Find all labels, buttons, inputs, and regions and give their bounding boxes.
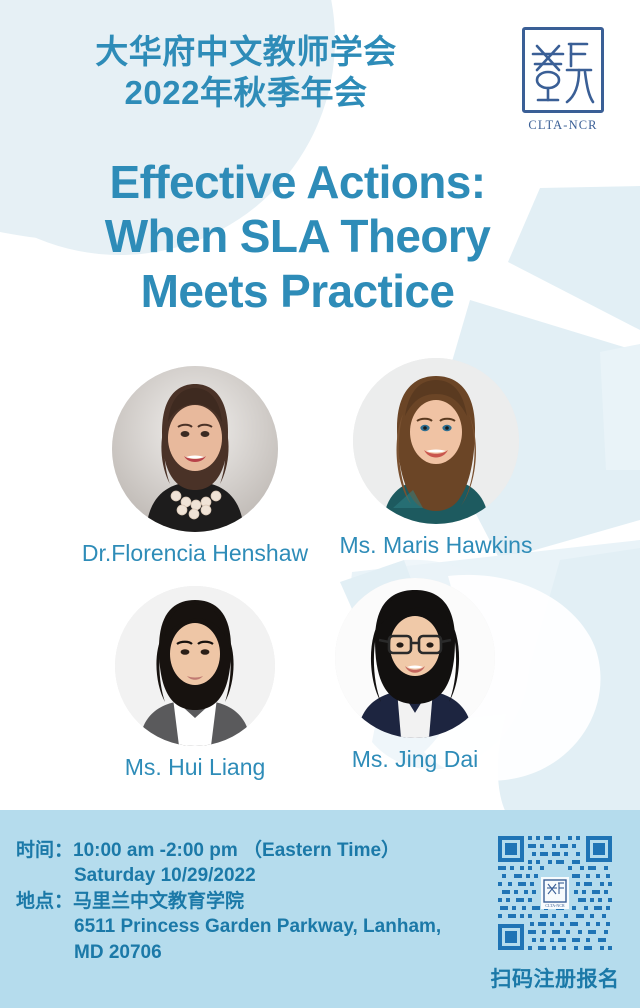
organization-title: 大华府中文教师学会 2022年秋季年会 (0, 32, 492, 114)
speakers-row-2: Ms. Hui Liang (0, 580, 640, 802)
time-value: 10:00 am -2:00 pm （Eastern Time） (73, 840, 400, 861)
title-line-2: When SLA Theory (0, 209, 595, 263)
time-label: 时间： (16, 840, 73, 861)
clta-ncr-logo: CLTA-NCR (508, 27, 618, 133)
place-value: 马里兰中文教育学院 (73, 891, 244, 912)
org-title-line-2: 2022年秋季年会 (0, 73, 492, 114)
event-address-row-1: 6511 Princess Garden Parkway, Lanham, (16, 914, 476, 939)
speaker-name-2: Ms. Maris Hawkins (336, 532, 536, 559)
speaker-name-1: Dr.Florencia Henshaw (80, 540, 310, 567)
portrait-florencia-henshaw (112, 366, 278, 532)
portrait-hui-liang (115, 586, 275, 746)
svg-text:CLTA-NCR: CLTA-NCR (545, 903, 565, 908)
portrait-maris-hawkins (353, 358, 519, 524)
speaker-name-3: Ms. Hui Liang (95, 754, 295, 781)
speaker-card-1: Dr.Florencia Henshaw (80, 366, 310, 567)
speaker-card-4: Ms. Jing Dai (315, 578, 515, 773)
speakers-row-1: Dr.Florencia Henshaw (0, 358, 640, 580)
registration-qr-block[interactable]: CLTA-NCR 扫码注册报名 (486, 832, 624, 993)
speaker-card-2: Ms. Maris Hawkins (336, 358, 536, 559)
event-time-row: 时间：10:00 am -2:00 pm （Eastern Time） (16, 838, 476, 863)
event-date-row: Saturday 10/29/2022 (16, 863, 476, 888)
event-address-row-2: MD 20706 (16, 940, 476, 965)
qr-caption: 扫码注册报名 (486, 963, 624, 993)
event-details: 时间：10:00 am -2:00 pm （Eastern Time） Satu… (16, 838, 476, 965)
portrait-jing-dai (335, 578, 495, 738)
clta-ncr-seal-icon (522, 27, 604, 113)
event-place-row: 地点：马里兰中文教育学院 (16, 889, 476, 914)
title-line-3: Meets Practice (0, 264, 595, 318)
logo-caption: CLTA-NCR (508, 118, 618, 133)
speaker-name-4: Ms. Jing Dai (315, 746, 515, 773)
speakers-section: Dr.Florencia Henshaw (0, 358, 640, 802)
poster-title: Effective Actions: When SLA Theory Meets… (0, 155, 595, 318)
poster-footer: 时间：10:00 am -2:00 pm （Eastern Time） Satu… (0, 810, 640, 1008)
poster-header: 大华府中文教师学会 2022年秋季年会 (0, 0, 640, 150)
title-line-1: Effective Actions: (0, 155, 595, 209)
conference-poster: 大华府中文教师学会 2022年秋季年会 (0, 0, 640, 1008)
place-label: 地点： (16, 891, 73, 912)
registration-qr-code[interactable]: CLTA-NCR (494, 832, 616, 954)
org-title-line-1: 大华府中文教师学会 (0, 32, 492, 73)
speaker-card-3: Ms. Hui Liang (95, 586, 295, 781)
